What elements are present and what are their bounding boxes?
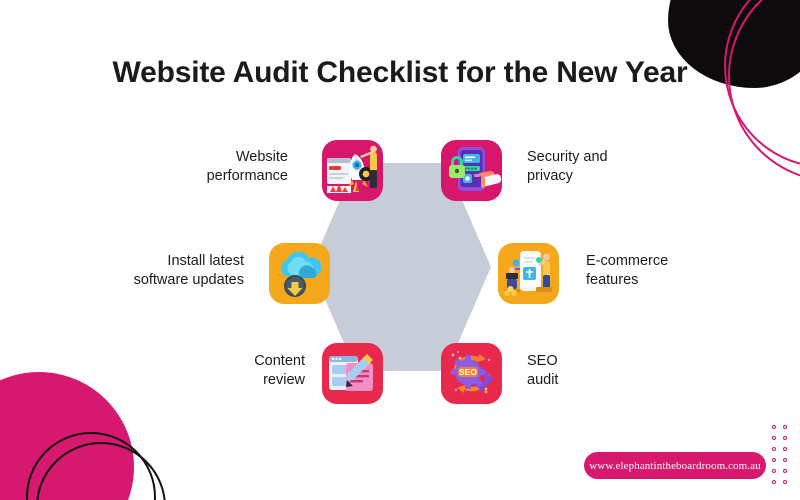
tile-e-commerce-features[interactable] — [498, 243, 559, 304]
label-website-performance: Website performance — [170, 148, 288, 185]
tile-content-review[interactable] — [322, 343, 383, 404]
label-install-latest-software-updates: Install latest software updates — [88, 252, 244, 289]
website-url-badge[interactable]: www.elephantintheboardroom.com.au — [584, 452, 766, 479]
website-url-text: www.elephantintheboardroom.com.au — [589, 460, 761, 472]
label-security-and-privacy: Security and privacy — [527, 148, 647, 185]
seo-gears-icon: SEO — [441, 343, 502, 404]
phone-lock-icon — [441, 140, 502, 201]
rocket-launch-icon — [322, 140, 383, 201]
label-e-commerce-features: E-commerce features — [586, 252, 711, 289]
dot-grid-decoration — [768, 422, 790, 488]
infographic-canvas: Website Audit Checklist for the New Year — [0, 0, 800, 500]
seo-icon-text: SEO — [459, 367, 477, 377]
document-pencil-icon — [322, 343, 383, 404]
label-content-review: Content review — [205, 352, 305, 389]
label-seo-audit: SEO audit — [527, 352, 627, 389]
tile-install-latest-software-updates[interactable] — [269, 243, 330, 304]
tile-website-performance[interactable] — [322, 140, 383, 201]
online-shopping-icon — [498, 243, 559, 304]
cloud-download-icon — [269, 243, 330, 304]
tile-security-and-privacy[interactable] — [441, 140, 502, 201]
tile-seo-audit[interactable]: SEO — [441, 343, 502, 404]
pink-arc-decoration-inner — [728, 0, 800, 182]
page-title: Website Audit Checklist for the New Year — [0, 56, 800, 90]
